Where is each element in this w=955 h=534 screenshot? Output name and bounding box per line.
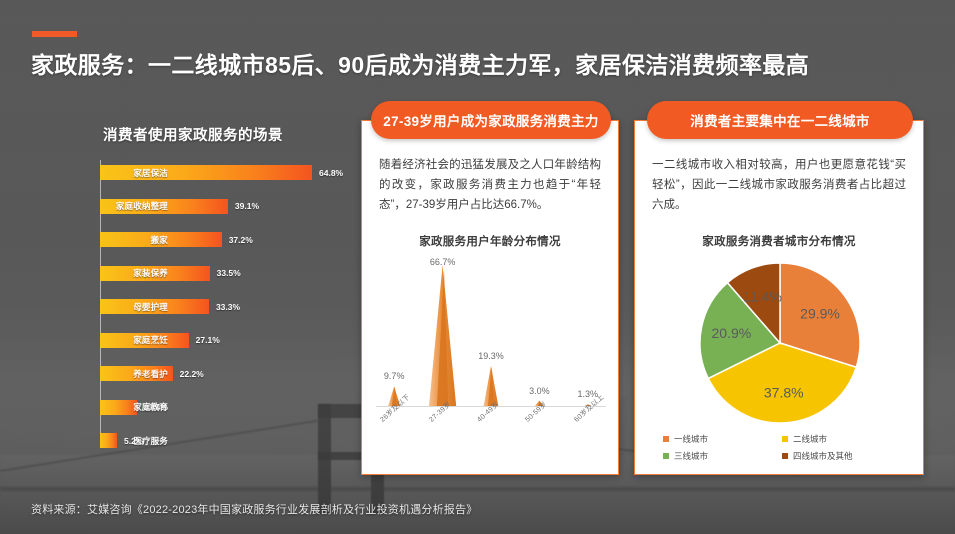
bar-category-label: 家庭教育 (100, 401, 168, 413)
legend-swatch-icon (663, 436, 669, 442)
pie-value-label: 20.9% (712, 325, 752, 341)
legend-swatch-icon (663, 453, 669, 459)
age-chart-xaxis-labels: 26岁及以下27-39岁40-49岁50-59岁60岁及以上 (370, 409, 612, 465)
bar-category-label: 家居保洁 (100, 167, 168, 179)
pie-value-label: 37.8% (764, 384, 804, 400)
age-distribution-card: 27-39岁用户成为家政服务消费主力 随着经济社会的迅猛发展及之人口年龄结构的改… (361, 120, 619, 475)
bar-row: 医疗服务5.2% (100, 432, 358, 449)
bar-value-label: 64.8% (319, 168, 343, 178)
bar-row: 家庭收纳整理39.1% (100, 198, 358, 215)
bar-category-label: 搬家 (100, 234, 168, 246)
bar-category-label: 医疗服务 (100, 435, 168, 447)
legend-item[interactable]: 二线城市 (782, 433, 901, 445)
city-card-paragraph: 一二线城市收入相对较高，用户也更愿意花钱“买轻松”，因此一二线城市家政服务消费者… (652, 155, 906, 215)
bar-value-label: 33.5% (217, 268, 241, 278)
bar-row: 家庭教育11.4% (100, 399, 358, 416)
legend-item[interactable]: 一线城市 (663, 433, 782, 445)
city-card-headline: 消费者主要集中在一二线城市 (647, 101, 913, 139)
bar-category-label: 养老看护 (100, 368, 168, 380)
pie-value-label: 11.4% (743, 289, 782, 305)
bar-value-label: 37.2% (229, 235, 253, 245)
legend-swatch-icon (782, 453, 788, 459)
bar-category-label: 家庭收纳整理 (100, 200, 168, 212)
bar-row: 搬家37.2% (100, 231, 358, 248)
age-card-headline: 27-39岁用户成为家政服务消费主力 (371, 101, 611, 139)
city-distribution-card: 消费者主要集中在一二线城市 一二线城市收入相对较高，用户也更愿意花钱“买轻松”，… (634, 120, 924, 475)
bar-row: 母婴护理33.3% (100, 298, 358, 315)
spike-value-label: 19.3% (478, 351, 504, 361)
legend-item[interactable]: 三线城市 (663, 450, 782, 462)
page-title: 家政服务：一二线城市85后、90后成为消费主力军，家居保洁消费频率最高 (31, 46, 809, 80)
city-pie-svg: 29.9%37.8%20.9%11.4% (685, 257, 875, 429)
spike-value-label: 66.7% (430, 257, 456, 267)
bar-row: 养老看护22.2% (100, 365, 358, 382)
source-note: 资料来源：艾媒咨询《2022-2023年中国家政服务行业发展剖析及行业投资机遇分… (31, 501, 477, 517)
spike-value-label: 9.7% (384, 371, 405, 381)
city-pie-chart: 29.9%37.8%20.9%11.4% (685, 257, 875, 429)
city-chart-title: 家政服务消费者城市分布情况 (635, 233, 923, 249)
bar-value-label: 39.1% (235, 201, 259, 211)
spike-value-label: 1.3% (578, 389, 599, 399)
city-pie-legend: 一线城市二线城市三线城市四线城市及其他 (663, 433, 901, 467)
age-chart-value-labels: 9.7%66.7%19.3%3.0%1.3% (370, 257, 612, 407)
bar-row: 家庭烹饪27.1% (100, 332, 358, 349)
legend-label: 一线城市 (674, 433, 708, 445)
bar-category-label: 母婴护理 (100, 301, 168, 313)
scenario-bar-chart: 消费者使用家政服务的场景 家居保洁64.8%家庭收纳整理39.1%搬家37.2%… (28, 124, 358, 466)
bar-value-label: 22.2% (180, 369, 204, 379)
bar-row: 家居保洁64.8% (100, 164, 358, 181)
bar-value-label: 33.3% (216, 302, 240, 312)
bar-chart-plot: 家居保洁64.8%家庭收纳整理39.1%搬家37.2%家装保养33.5%母婴护理… (28, 164, 358, 449)
bar-row: 家装保养33.5% (100, 265, 358, 282)
legend-label: 四线城市及其他 (793, 450, 853, 462)
legend-label: 三线城市 (674, 450, 708, 462)
legend-item[interactable]: 四线城市及其他 (782, 450, 901, 462)
pie-value-label: 29.9% (800, 306, 840, 322)
spike-value-label: 3.0% (529, 386, 550, 396)
slide-canvas: 家政服务：一二线城市85后、90后成为消费主力军，家居保洁消费频率最高 消费者使… (0, 0, 955, 534)
age-chart-title: 家政服务用户年龄分布情况 (362, 233, 618, 249)
legend-label: 二线城市 (793, 433, 827, 445)
bar-category-label: 家装保养 (100, 267, 168, 279)
legend-swatch-icon (782, 436, 788, 442)
bar-category-label: 家庭烹饪 (100, 334, 168, 346)
title-accent-bar (32, 31, 77, 37)
age-card-paragraph: 随着经济社会的迅猛发展及之人口年龄结构的改变，家政服务消费主力也趋于“年轻态”，… (379, 155, 601, 215)
bar-value-label: 27.1% (196, 335, 220, 345)
bar-chart-title: 消费者使用家政服务的场景 (28, 124, 358, 145)
